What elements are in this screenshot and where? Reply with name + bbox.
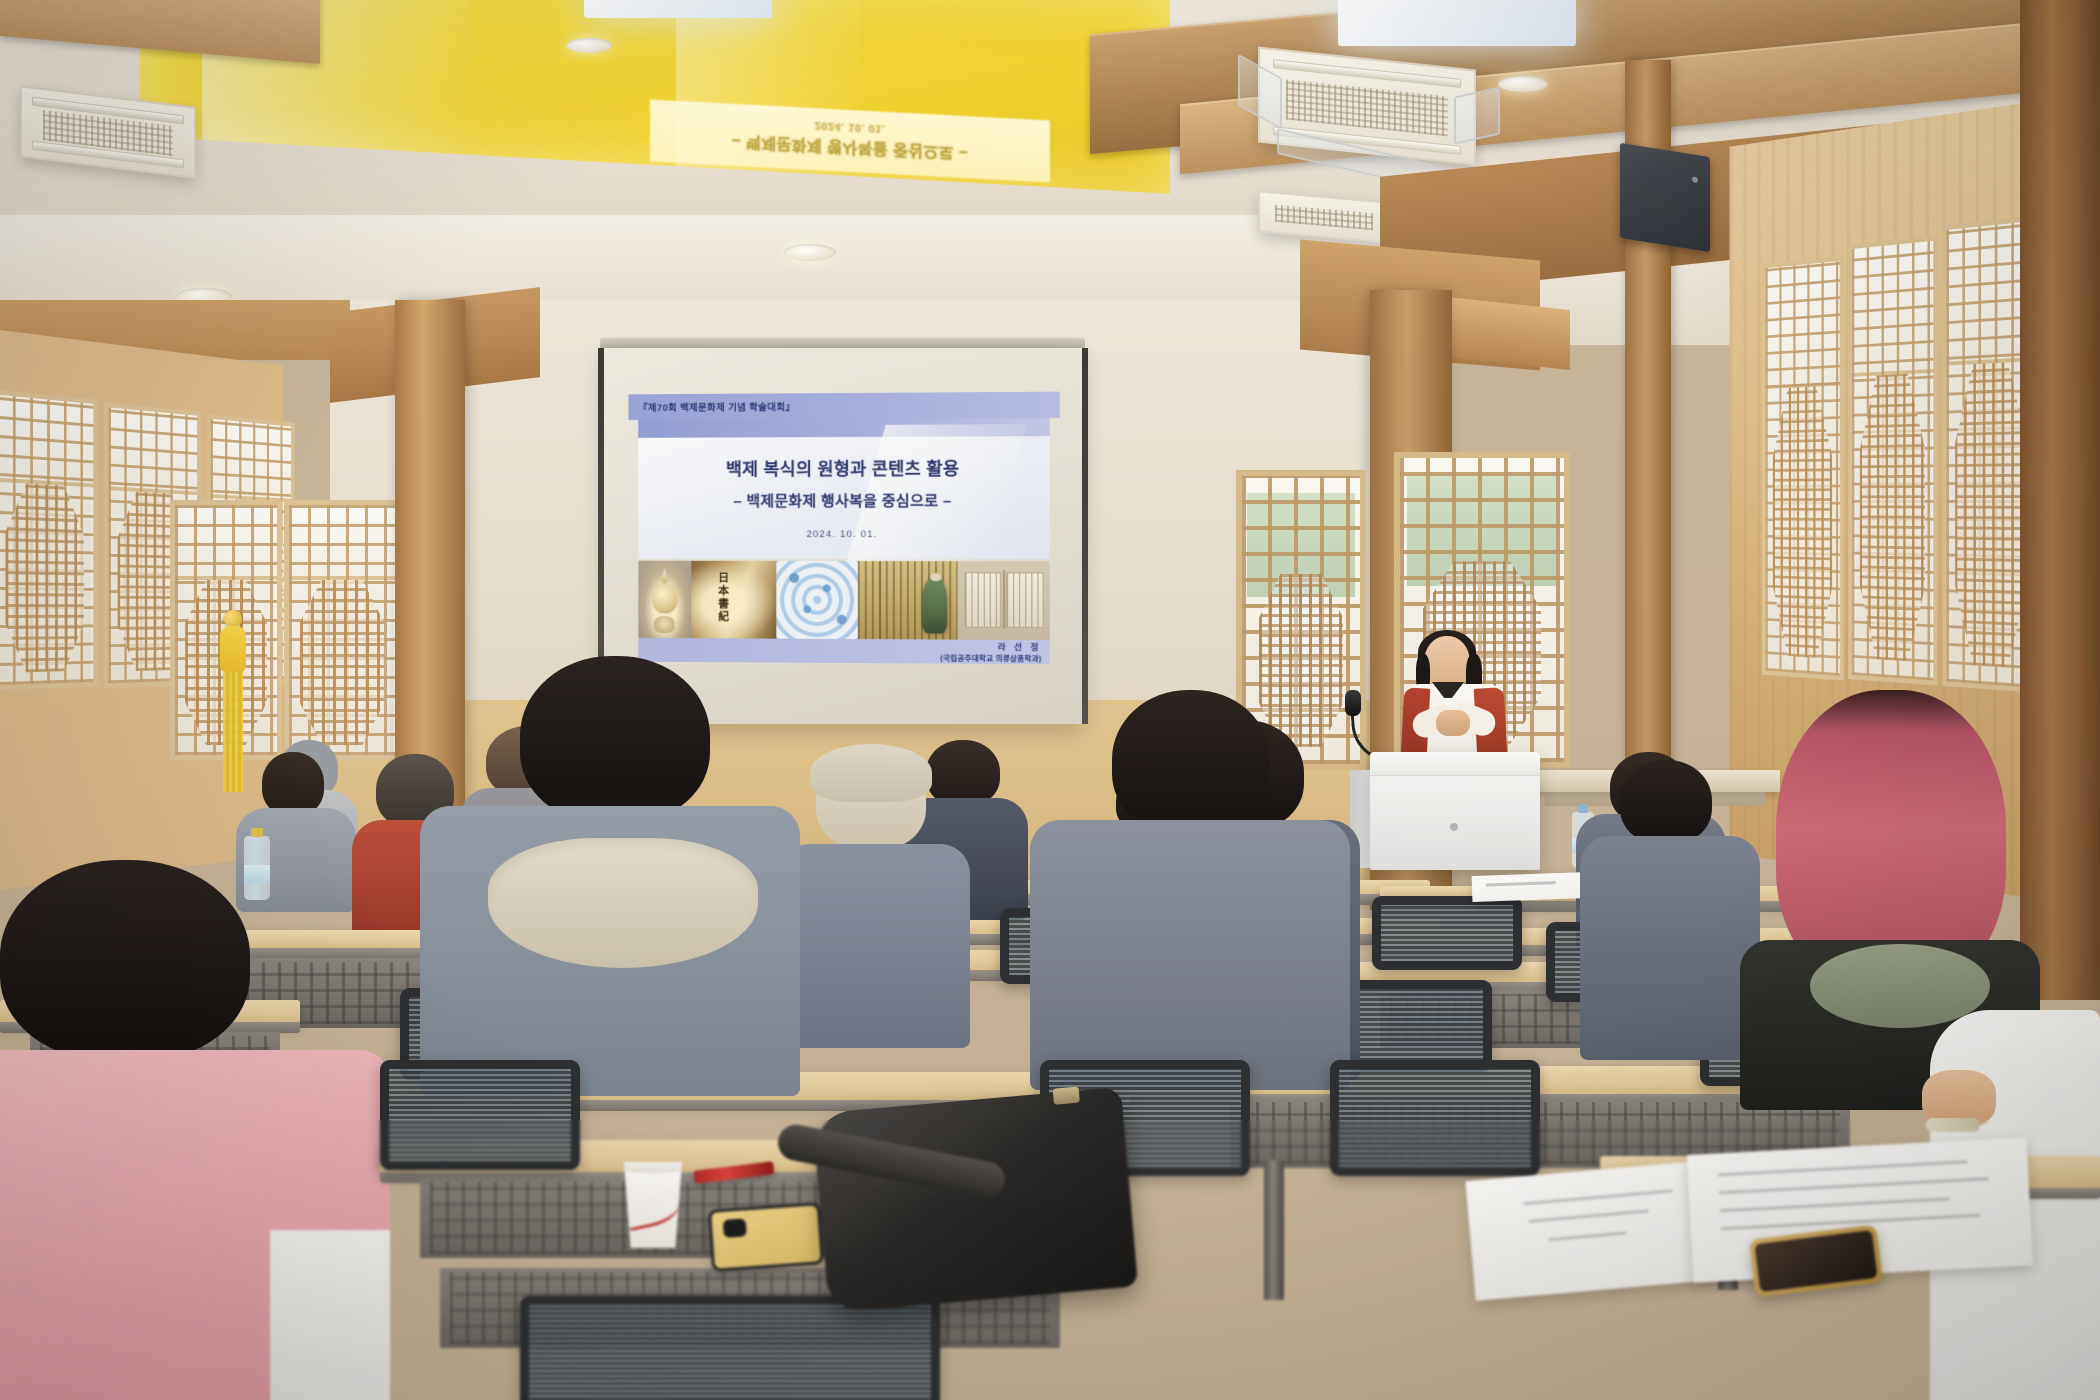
hood: [488, 838, 758, 968]
podium: [1370, 752, 1540, 870]
open-old-book-image: [958, 561, 1050, 640]
chair: [520, 1296, 940, 1400]
desk-leg: [1264, 1160, 1284, 1300]
chair: [380, 1060, 580, 1170]
downlight-icon: [566, 38, 612, 53]
slide-presenter-name: 라 선 정: [998, 640, 1042, 652]
skylight: [1338, 0, 1576, 46]
chair: [1372, 896, 1522, 970]
nihon-shoki-image: 日本書紀: [691, 561, 777, 639]
attendee-pink-shirt: [0, 860, 390, 1400]
chair: [1330, 1060, 1540, 1176]
skylight: [584, 0, 772, 18]
presenter-hands-holding-microphone: [1436, 710, 1470, 736]
paper-cup: [620, 1162, 686, 1248]
incense-burner-image: [638, 561, 691, 639]
lattice-window-panel: [0, 389, 98, 690]
bracelet: [1926, 1118, 1980, 1132]
slide-title: 백제 복식의 원형과 콘텐츠 활용: [726, 456, 960, 482]
reflection-date: 2024. 10. 01.: [815, 119, 886, 135]
wall-speaker: [1620, 143, 1710, 252]
lattice-window-panel: [1848, 236, 1937, 686]
attendee-grey-suit-center: [1030, 690, 1350, 1090]
slide-header-text: 『제70회 백제문화제 기념 학술대회』: [638, 399, 795, 414]
black-shoulder-bag: [812, 1087, 1138, 1313]
blue-textile-image: [776, 561, 858, 639]
water-bottle: [244, 836, 270, 900]
reflection-subtitle: – 백제문화제 행사복을 중심으로 –: [732, 131, 968, 167]
manuscript-figure-image: [858, 561, 957, 640]
downlight-icon: [784, 244, 836, 261]
white-sleeve: [270, 1230, 390, 1400]
nihon-shoki-caption: 日本書紀: [715, 572, 731, 624]
lecture-hall-photo: 2024. 10. 01. – 백제문화제 행사복을 중심으로 –: [0, 0, 2100, 1400]
left-window-bank: [170, 500, 400, 760]
yellow-phone: [708, 1202, 824, 1272]
attendee-beige-cap: [780, 748, 970, 1048]
slide-body: 백제 복식의 원형과 콘텐츠 활용 – 백제문화제 행사복을 중심으로 – 20…: [638, 436, 1049, 559]
lattice-window-panel: [1762, 256, 1844, 680]
handout-paper: [1472, 872, 1591, 902]
slide-image-strip: 日本書紀: [638, 561, 1049, 640]
slide-subtitle: – 백제문화제 행사복을 중심으로 –: [733, 490, 951, 511]
downlight-icon: [1498, 76, 1548, 92]
slide-header-band: 『제70회 백제문화제 기념 학술대회』: [628, 392, 1059, 420]
slide-presenter-affiliation: (국립공주대학교 의류상품학과): [940, 652, 1041, 664]
projected-slide: 『제70회 백제문화제 기념 학술대회』 백제 복식의 원형과 콘텐츠 활용 –…: [628, 392, 1059, 665]
attendee-grey-hoodie: [420, 656, 800, 1096]
slide-date: 2024. 10. 01.: [807, 529, 878, 540]
attendee-right-mid: [1580, 760, 1760, 1060]
lattice-window-panel: [284, 500, 400, 760]
